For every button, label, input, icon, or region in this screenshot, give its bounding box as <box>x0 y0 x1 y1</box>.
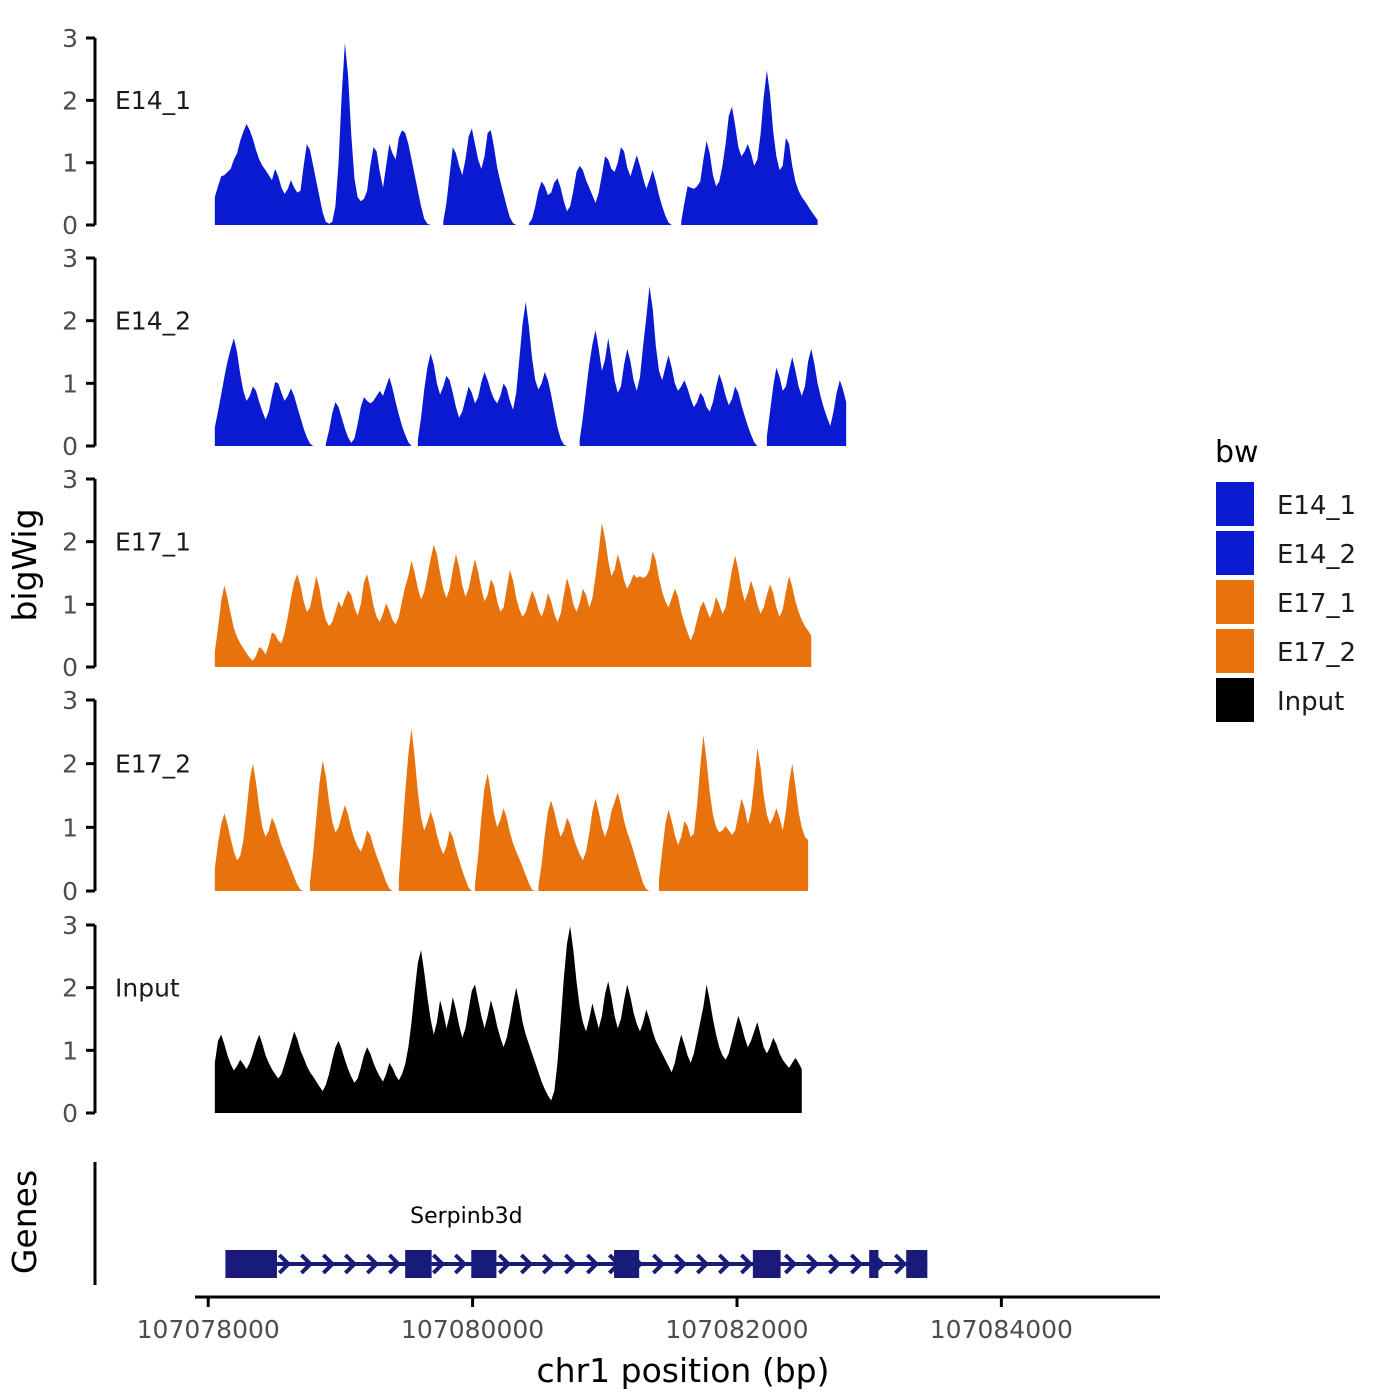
x-axis: 107078000107080000107082000107084000 <box>137 1297 1160 1344</box>
y-tick-label: 2 <box>62 86 78 115</box>
y-tick-label: 3 <box>62 24 78 53</box>
signal-track-e14_2 <box>215 286 846 446</box>
y-tick-label: 0 <box>62 877 78 906</box>
genes-axis-title: Genes <box>5 1170 44 1274</box>
legend: bwE14_1E14_2E17_1E17_2Input <box>1215 435 1356 722</box>
gene-exon-block <box>614 1250 639 1278</box>
legend-title: bw <box>1215 435 1259 470</box>
track-label-input: Input <box>115 973 180 1002</box>
gene-exon-block <box>753 1250 781 1278</box>
x-tick-label: 107084000 <box>930 1315 1073 1344</box>
x-tick-label: 107078000 <box>137 1315 280 1344</box>
bigwig-panels: 0123E14_10123E14_20123E17_10123E17_20123… <box>62 24 846 1128</box>
y-tick-label: 1 <box>62 149 78 178</box>
signal-track-e17_1 <box>215 523 811 667</box>
y-tick-label: 0 <box>62 1099 78 1128</box>
y-tick-label: 2 <box>62 974 78 1003</box>
gene-name-label: Serpinb3d <box>410 1204 523 1229</box>
y-tick-label: 2 <box>62 528 78 557</box>
y-tick-label: 3 <box>62 244 78 273</box>
y-tick-label: 0 <box>62 653 78 682</box>
y-tick-label: 3 <box>62 686 78 715</box>
signal-track-e14_1 <box>215 43 818 225</box>
signal-track-input <box>215 926 802 1113</box>
track-label-e17_1: E17_1 <box>115 527 191 556</box>
y-tick-label: 1 <box>62 590 78 619</box>
track-label-e17_2: E17_2 <box>115 750 191 779</box>
gene-exon-block <box>471 1250 496 1278</box>
y-axis-title: bigWig <box>5 508 44 621</box>
y-tick-label: 1 <box>62 813 78 842</box>
signal-track-e17_2 <box>215 729 808 891</box>
genome-browser-figure: 0123E14_10123E14_20123E17_10123E17_20123… <box>0 0 1400 1400</box>
y-tick-label: 0 <box>62 432 78 461</box>
y-tick-label: 3 <box>62 911 78 940</box>
track-label-e14_2: E14_2 <box>115 306 191 335</box>
legend-label-e17_1: E17_1 <box>1277 589 1356 619</box>
genes-panel: Serpinb3d <box>95 1162 927 1285</box>
x-tick-label: 107082000 <box>665 1315 808 1344</box>
legend-label-input: Input <box>1277 687 1344 717</box>
track-label-e14_1: E14_1 <box>115 86 191 115</box>
y-tick-label: 3 <box>62 465 78 494</box>
x-tick-label: 107080000 <box>401 1315 544 1344</box>
gene-exon-block <box>405 1250 431 1278</box>
y-tick-label: 1 <box>62 1036 78 1065</box>
y-tick-label: 1 <box>62 369 78 398</box>
legend-label-e14_2: E14_2 <box>1277 540 1356 570</box>
y-tick-label: 2 <box>62 307 78 336</box>
gene-exon-block <box>906 1250 927 1278</box>
gene-exon-block <box>869 1250 878 1278</box>
legend-swatch-e14_1 <box>1216 482 1254 526</box>
x-axis-title: chr1 position (bp) <box>537 1351 830 1390</box>
legend-label-e14_1: E14_1 <box>1277 491 1356 521</box>
legend-label-e17_2: E17_2 <box>1277 638 1356 668</box>
legend-swatch-input <box>1216 678 1254 722</box>
legend-swatch-e17_2 <box>1216 629 1254 673</box>
y-tick-label: 0 <box>62 211 78 240</box>
legend-swatch-e14_2 <box>1216 531 1254 575</box>
legend-swatch-e17_1 <box>1216 580 1254 624</box>
y-tick-label: 2 <box>62 750 78 779</box>
gene-exon-block <box>225 1250 277 1278</box>
